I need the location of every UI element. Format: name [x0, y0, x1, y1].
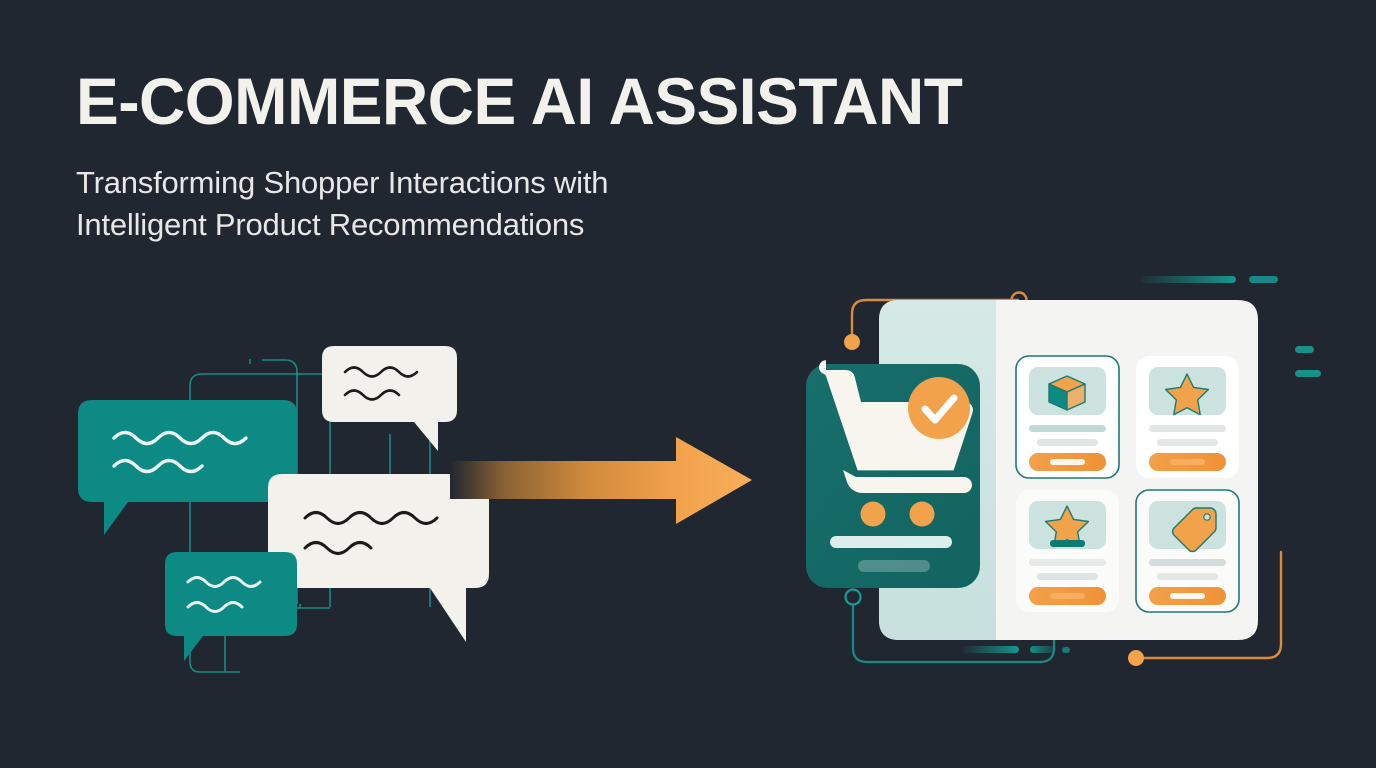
page-subtitle-line-1: Transforming Shopper Interactions with — [76, 162, 1036, 204]
teal-dash — [963, 646, 1019, 653]
skeleton-line — [1029, 559, 1106, 566]
chat-bubble-user-2 — [165, 552, 297, 661]
cart-wheel-icon — [910, 502, 935, 527]
product-card-1[interactable] — [1016, 356, 1119, 478]
product-card-2[interactable] — [1136, 356, 1239, 478]
teal-dash — [1062, 647, 1070, 653]
teal-dash — [1295, 346, 1314, 353]
teal-dash — [1249, 276, 1278, 283]
check-circle-icon — [908, 377, 970, 439]
header-block: E-COMMERCE AI ASSISTANT Transforming Sho… — [76, 62, 1036, 246]
page-subtitle-line-2: Intelligent Product Recommendations — [76, 204, 1036, 246]
teal-hollow-dot-icon — [846, 590, 861, 605]
shopping-cart-card[interactable] — [806, 360, 980, 588]
product-card-3[interactable] — [1016, 490, 1119, 612]
add-to-cart-button[interactable] — [1029, 587, 1106, 605]
skeleton-line — [1157, 439, 1218, 446]
teal-dash — [1030, 646, 1056, 653]
chat-bubble-user-1 — [78, 400, 297, 535]
teal-dash — [1295, 370, 1321, 377]
rating-bar — [1050, 540, 1085, 547]
cart-wheel-icon — [861, 502, 886, 527]
teal-dash — [1140, 276, 1236, 283]
cart-placeholder-bar — [858, 560, 930, 572]
page-subtitle: Transforming Shopper Interactions with I… — [76, 162, 1036, 246]
cart-placeholder-bar — [830, 536, 952, 548]
add-to-cart-button[interactable] — [1149, 453, 1226, 471]
slide-root: E-COMMERCE AI ASSISTANT Transforming Sho… — [0, 0, 1376, 768]
add-to-cart-button[interactable] — [1149, 587, 1226, 605]
illustration-area — [0, 252, 1376, 712]
add-to-cart-button[interactable] — [1029, 453, 1106, 471]
skeleton-line — [1149, 559, 1226, 566]
skeleton-line — [1157, 573, 1218, 580]
skeleton-line — [1149, 425, 1226, 432]
transformation-arrow — [450, 437, 752, 524]
chat-bubble-assistant-2 — [268, 474, 489, 642]
skeleton-line — [1037, 573, 1098, 580]
product-card-4[interactable] — [1136, 490, 1239, 612]
orange-filled-dot-icon — [844, 334, 860, 350]
page-title: E-COMMERCE AI ASSISTANT — [76, 62, 1007, 140]
orange-filled-dot-icon — [1128, 650, 1144, 666]
package-box-icon — [1049, 376, 1085, 410]
skeleton-line — [1037, 439, 1098, 446]
skeleton-line — [1029, 425, 1106, 432]
